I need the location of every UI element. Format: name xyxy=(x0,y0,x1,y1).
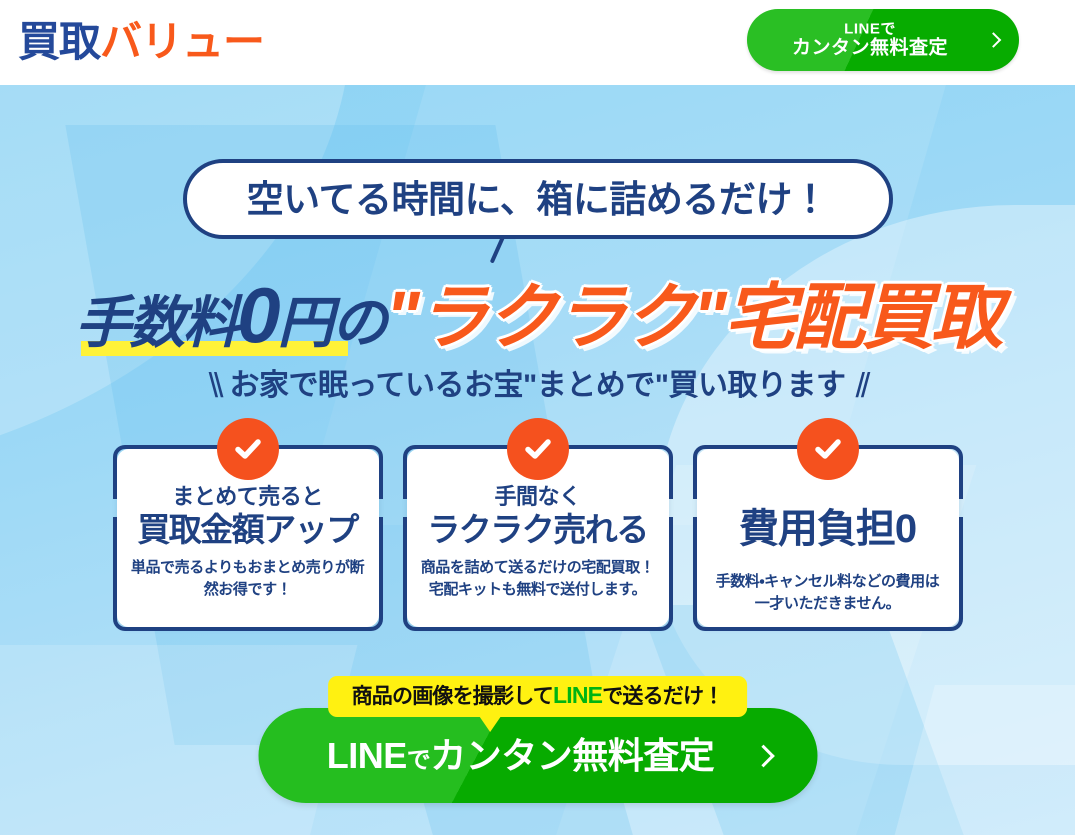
card-body: 費用負担0 手数料・キャンセル料などの費用は一才いただきません。 xyxy=(697,483,959,615)
headline-blue-part: 手数料0円の xyxy=(75,270,385,361)
speech-bubble: 空いてる時間に、箱に詰めるだけ！ xyxy=(183,159,893,239)
check-circle-icon xyxy=(217,418,279,480)
badge-line-brand: LINE xyxy=(553,682,602,708)
main-cta-de: で xyxy=(407,747,431,774)
headline-part1: 手数料 xyxy=(75,291,237,354)
main-cta-line: LINE xyxy=(327,735,407,776)
hero-headline: 手数料0円の "ラクラク"宅配買取 xyxy=(0,258,1075,363)
card-border-edge xyxy=(379,517,383,581)
card-border-edge xyxy=(771,627,885,631)
card-border-edge xyxy=(481,627,595,631)
feature-card: 費用負担0 手数料・キャンセル料などの費用は一才いただきません。 xyxy=(697,449,959,627)
headline-part2: 円の xyxy=(278,291,386,354)
card-description: 手数料・キャンセル料などの費用は一才いただきません。 xyxy=(709,571,947,615)
card-description: 商品を詰めて送るだけの宅配買取！宅配キットも無料で送付します。 xyxy=(419,557,657,601)
check-circle-icon xyxy=(507,418,569,480)
card-subtitle: 手間なく xyxy=(419,483,657,511)
cta-badge-text: 商品の画像を撮影してLINEで送るだけ！ xyxy=(352,685,724,708)
logo-sub-text: バリュー xyxy=(100,18,264,65)
slash-left-icon: \\ xyxy=(199,367,230,406)
headline-zero: 0 xyxy=(237,271,277,359)
feature-cards: まとめて売ると 買取金額アップ 単品で売るよりもおまとめ売りが断然お得です！ 手… xyxy=(0,449,1075,627)
feature-card: まとめて売ると 買取金額アップ 単品で売るよりもおまとめ売りが断然お得です！ xyxy=(117,449,379,627)
main-cta-rest: カンタン無料査定 xyxy=(430,735,714,776)
check-circle-icon xyxy=(797,418,859,480)
headline-highlight: "ラクラク"宅配買取 xyxy=(386,278,1000,358)
site-header: 買取バリュー LINEで カンタン無料査定 xyxy=(0,0,1075,85)
card-border-edge xyxy=(669,517,673,581)
card-description: 単品で売るよりもおまとめ売りが断然お得です！ xyxy=(129,557,367,601)
landing-page: 買取バリュー LINEで カンタン無料査定 空いてる時間に、箱に詰めるだけ！ 手… xyxy=(0,0,1075,835)
header-line-cta-button[interactable]: LINEで カンタン無料査定 xyxy=(747,9,1019,71)
feature-card: 手間なく ラクラク売れる 商品を詰めて送るだけの宅配買取！宅配キットも無料で送付… xyxy=(407,449,669,627)
main-cta-label: LINEでカンタン無料査定 xyxy=(258,738,783,774)
card-subtitle: まとめて売ると xyxy=(129,483,367,511)
card-border-edge xyxy=(959,517,963,581)
card-border-edge xyxy=(191,627,305,631)
card-title: ラクラク売れる xyxy=(419,510,657,550)
card-title: 費用負担0 xyxy=(709,505,947,553)
hero-subtitle-text: お家で眠っているお宝"まとめで"買い取ります xyxy=(230,369,846,402)
site-logo[interactable]: 買取バリュー xyxy=(18,13,264,71)
card-body: 手間なく ラクラク売れる 商品を詰めて送るだけの宅配買取！宅配キットも無料で送付… xyxy=(407,483,669,601)
card-body: まとめて売ると 買取金額アップ 単品で売るよりもおまとめ売りが断然お得です！ xyxy=(117,483,379,601)
card-title: 買取金額アップ xyxy=(129,510,367,550)
speech-bubble-text: 空いてる時間に、箱に詰めるだけ！ xyxy=(247,181,829,218)
header-cta-label: LINEで カンタン無料査定 xyxy=(747,20,993,59)
cta-badge: 商品の画像を撮影してLINEで送るだけ！ xyxy=(328,676,748,717)
slash-right-icon: // xyxy=(845,367,876,406)
hero-subtitle: \\お家で眠っているお宝"まとめで"買い取ります// xyxy=(0,360,1075,404)
main-line-cta-button[interactable]: LINEでカンタン無料査定 xyxy=(258,708,817,803)
cta-badge-tail xyxy=(480,716,502,732)
logo-main-text: 買取 xyxy=(18,18,100,65)
badge-pre: 商品の画像を撮影して xyxy=(352,685,553,708)
header-cta-line2: カンタン無料査定 xyxy=(747,38,993,60)
badge-post: で送るだけ！ xyxy=(602,685,723,708)
header-cta-line1: LINEで xyxy=(747,20,993,37)
